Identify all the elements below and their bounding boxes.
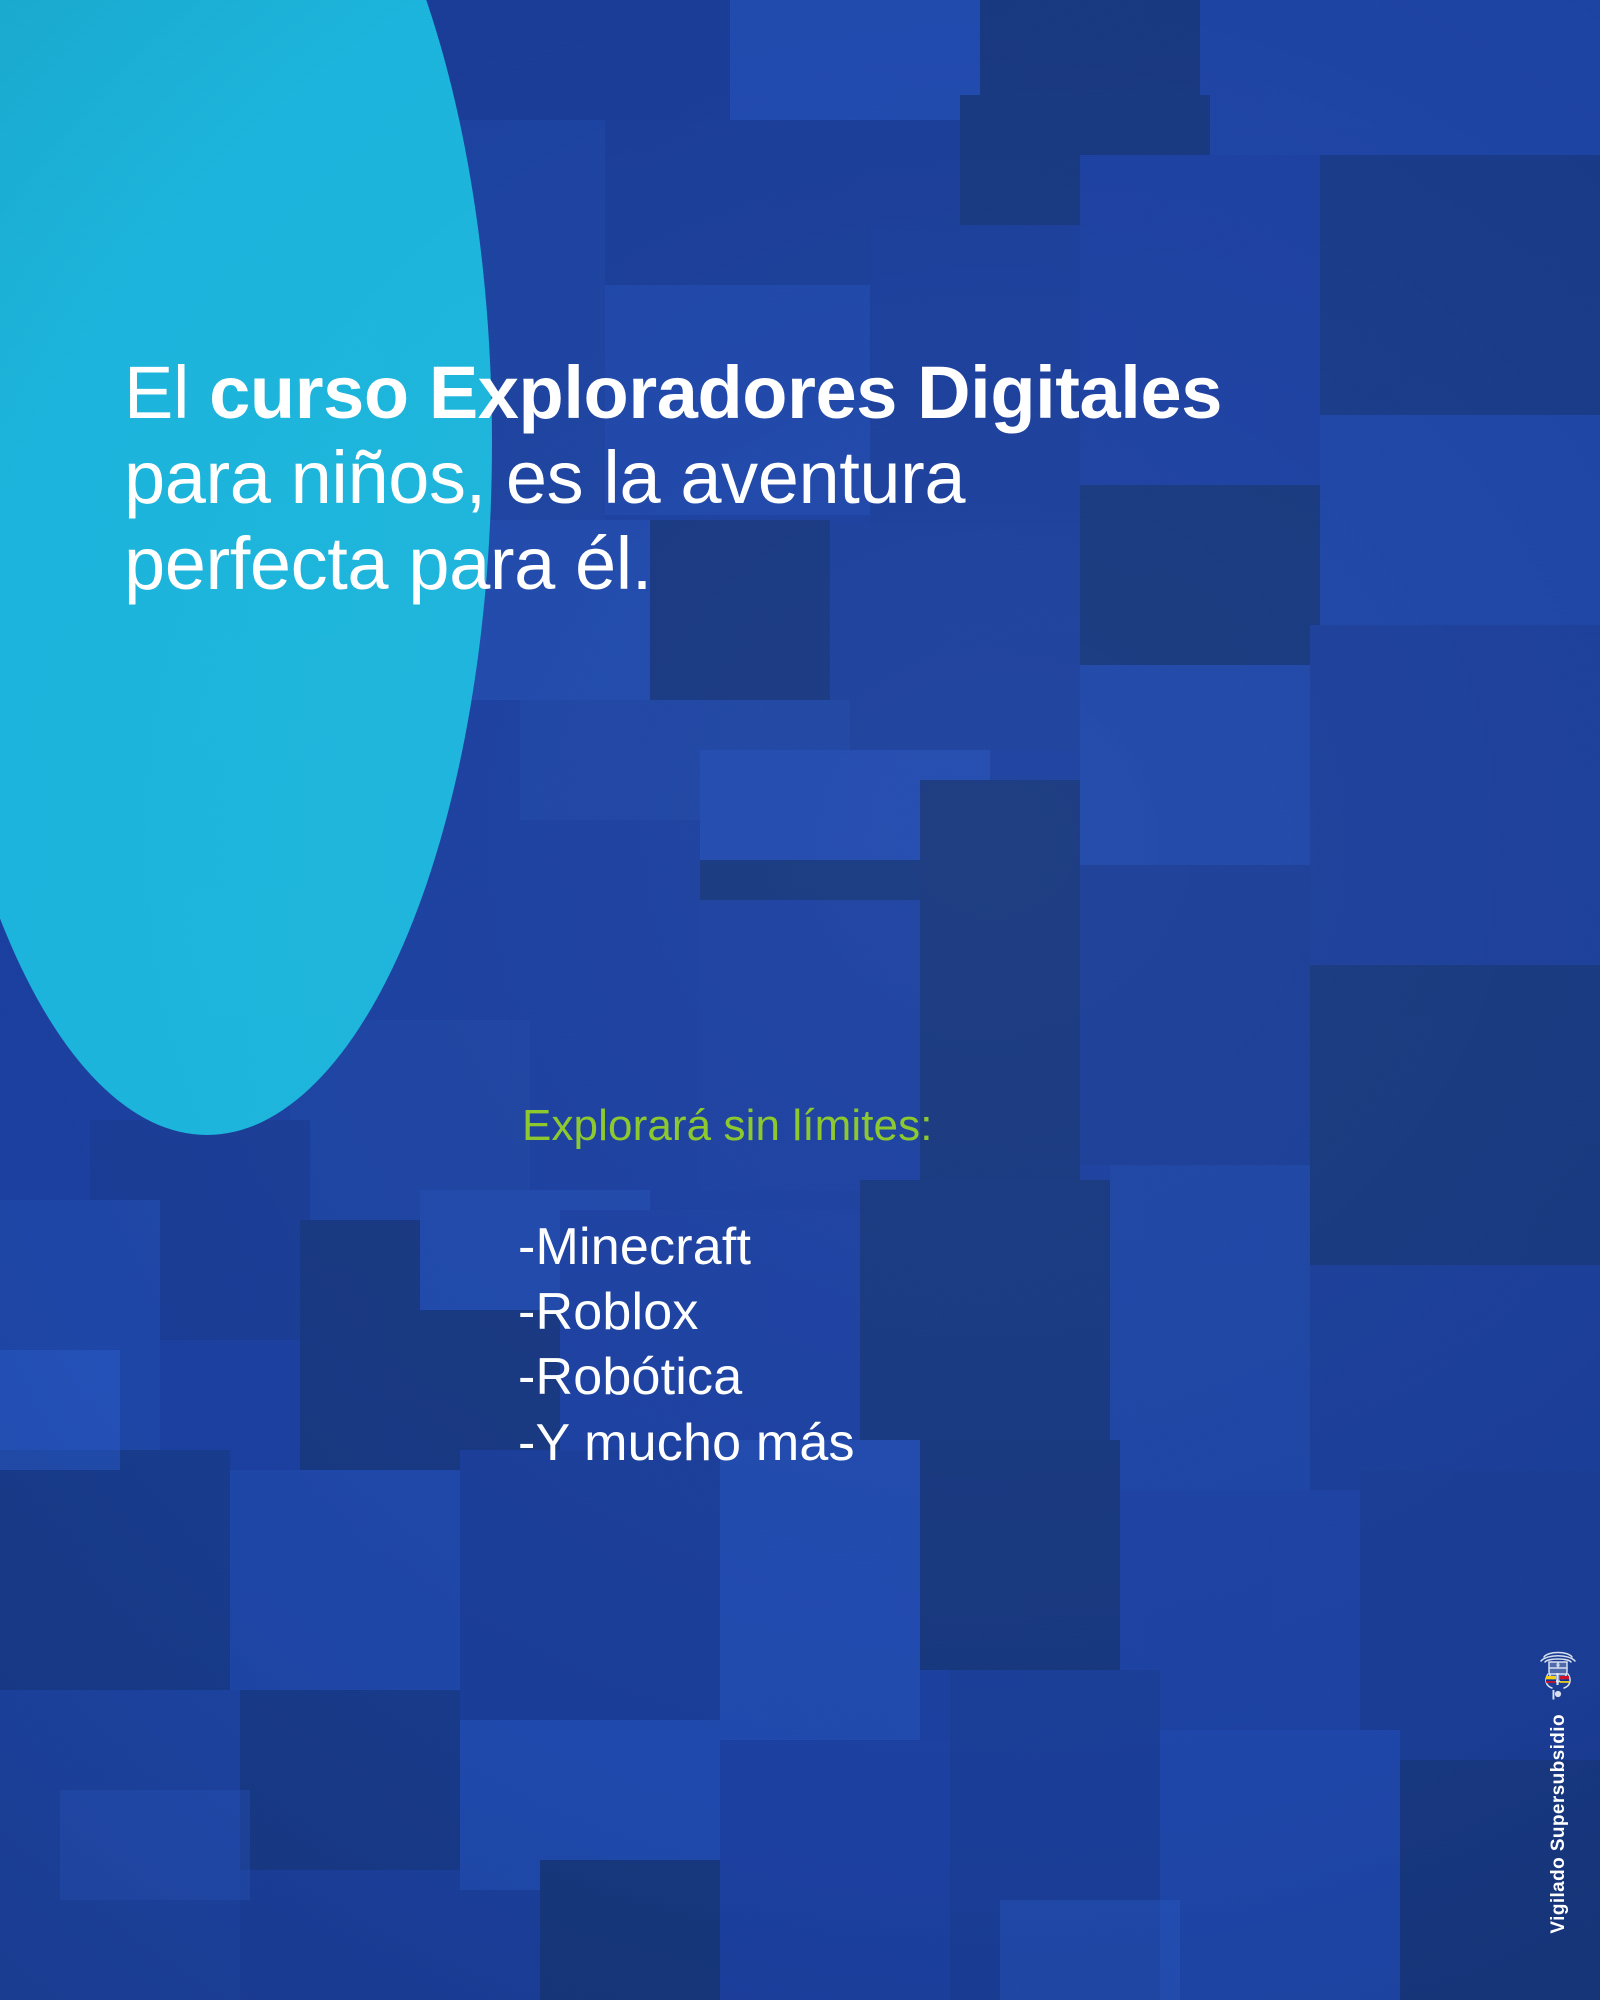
- offer-list: -Minecraft -Roblox -Robótica -Y mucho má…: [518, 1218, 855, 1479]
- poster-content: El curso Exploradores Digitales para niñ…: [0, 0, 1600, 2000]
- vigilado-label: Vigilado Supersubsidio: [1549, 1714, 1568, 1934]
- headline-part-bold: curso Exploradores Digitales: [209, 351, 1222, 434]
- colombia-coat-of-arms-icon: [1534, 1646, 1582, 1704]
- headline: El curso Exploradores Digitales para niñ…: [124, 350, 1224, 607]
- offer-sub-heading: Explorará sin límites:: [522, 1100, 933, 1153]
- vigilado-badge: Vigilado Supersubsidio: [1534, 1646, 1582, 1934]
- list-item: -Minecraft: [518, 1218, 855, 1276]
- list-item: -Robótica: [518, 1348, 855, 1406]
- list-item: -Y mucho más: [518, 1414, 855, 1472]
- list-item: -Roblox: [518, 1283, 855, 1341]
- poster-canvas: El curso Exploradores Digitales para niñ…: [0, 0, 1600, 2000]
- headline-part-1: El: [124, 351, 209, 434]
